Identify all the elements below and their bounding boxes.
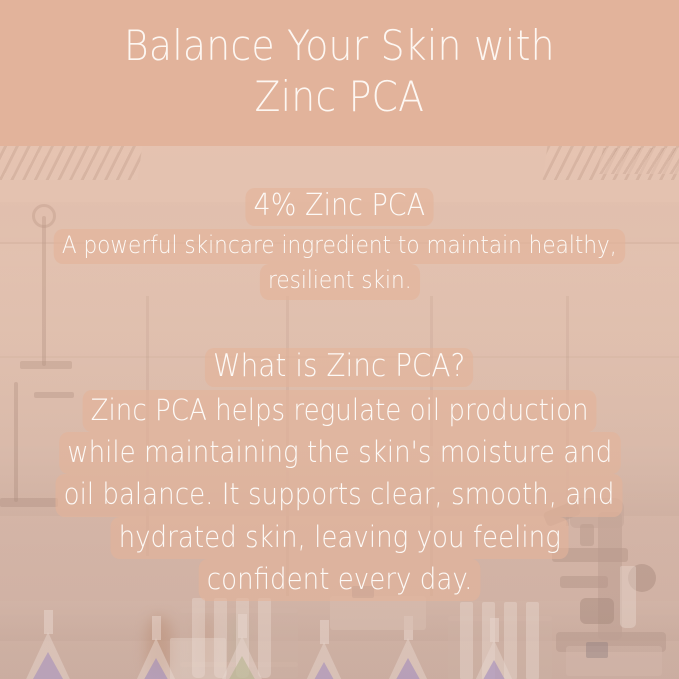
header-banner: Balance Your Skin with Zinc PCA — [0, 0, 679, 146]
explainer-body-line: while maintaining the skin's moisture an… — [59, 432, 620, 474]
explainer-heading-block: What is Zinc PCA? — [0, 348, 679, 387]
explainer-body-line: hydrated skin, leaving you feeling — [110, 517, 569, 559]
content-area: 4% Zinc PCA A powerful skincare ingredie… — [0, 146, 679, 679]
ingredient-heading: 4% Zinc PCA — [246, 188, 434, 226]
page-title: Balance Your Skin with Zinc PCA — [124, 20, 555, 122]
explainer-heading: What is Zinc PCA? — [205, 348, 473, 387]
explainer-body-line: confident every day. — [199, 559, 481, 601]
poster: Balance Your Skin with Zinc PCA 4% Zinc … — [0, 0, 679, 679]
explainer-body-block: Zinc PCA helps regulate oil production w… — [0, 390, 679, 601]
ingredient-body-line: A powerful skincare ingredient to mainta… — [54, 229, 625, 264]
ingredient-body-block: A powerful skincare ingredient to mainta… — [0, 229, 679, 299]
ingredient-body-line: resilient skin. — [260, 264, 420, 299]
ingredient-heading-block: 4% Zinc PCA — [0, 188, 679, 226]
explainer-body-line: oil balance. It supports clear, smooth, … — [56, 474, 623, 516]
explainer-body-line: Zinc PCA helps regulate oil production — [82, 390, 596, 432]
